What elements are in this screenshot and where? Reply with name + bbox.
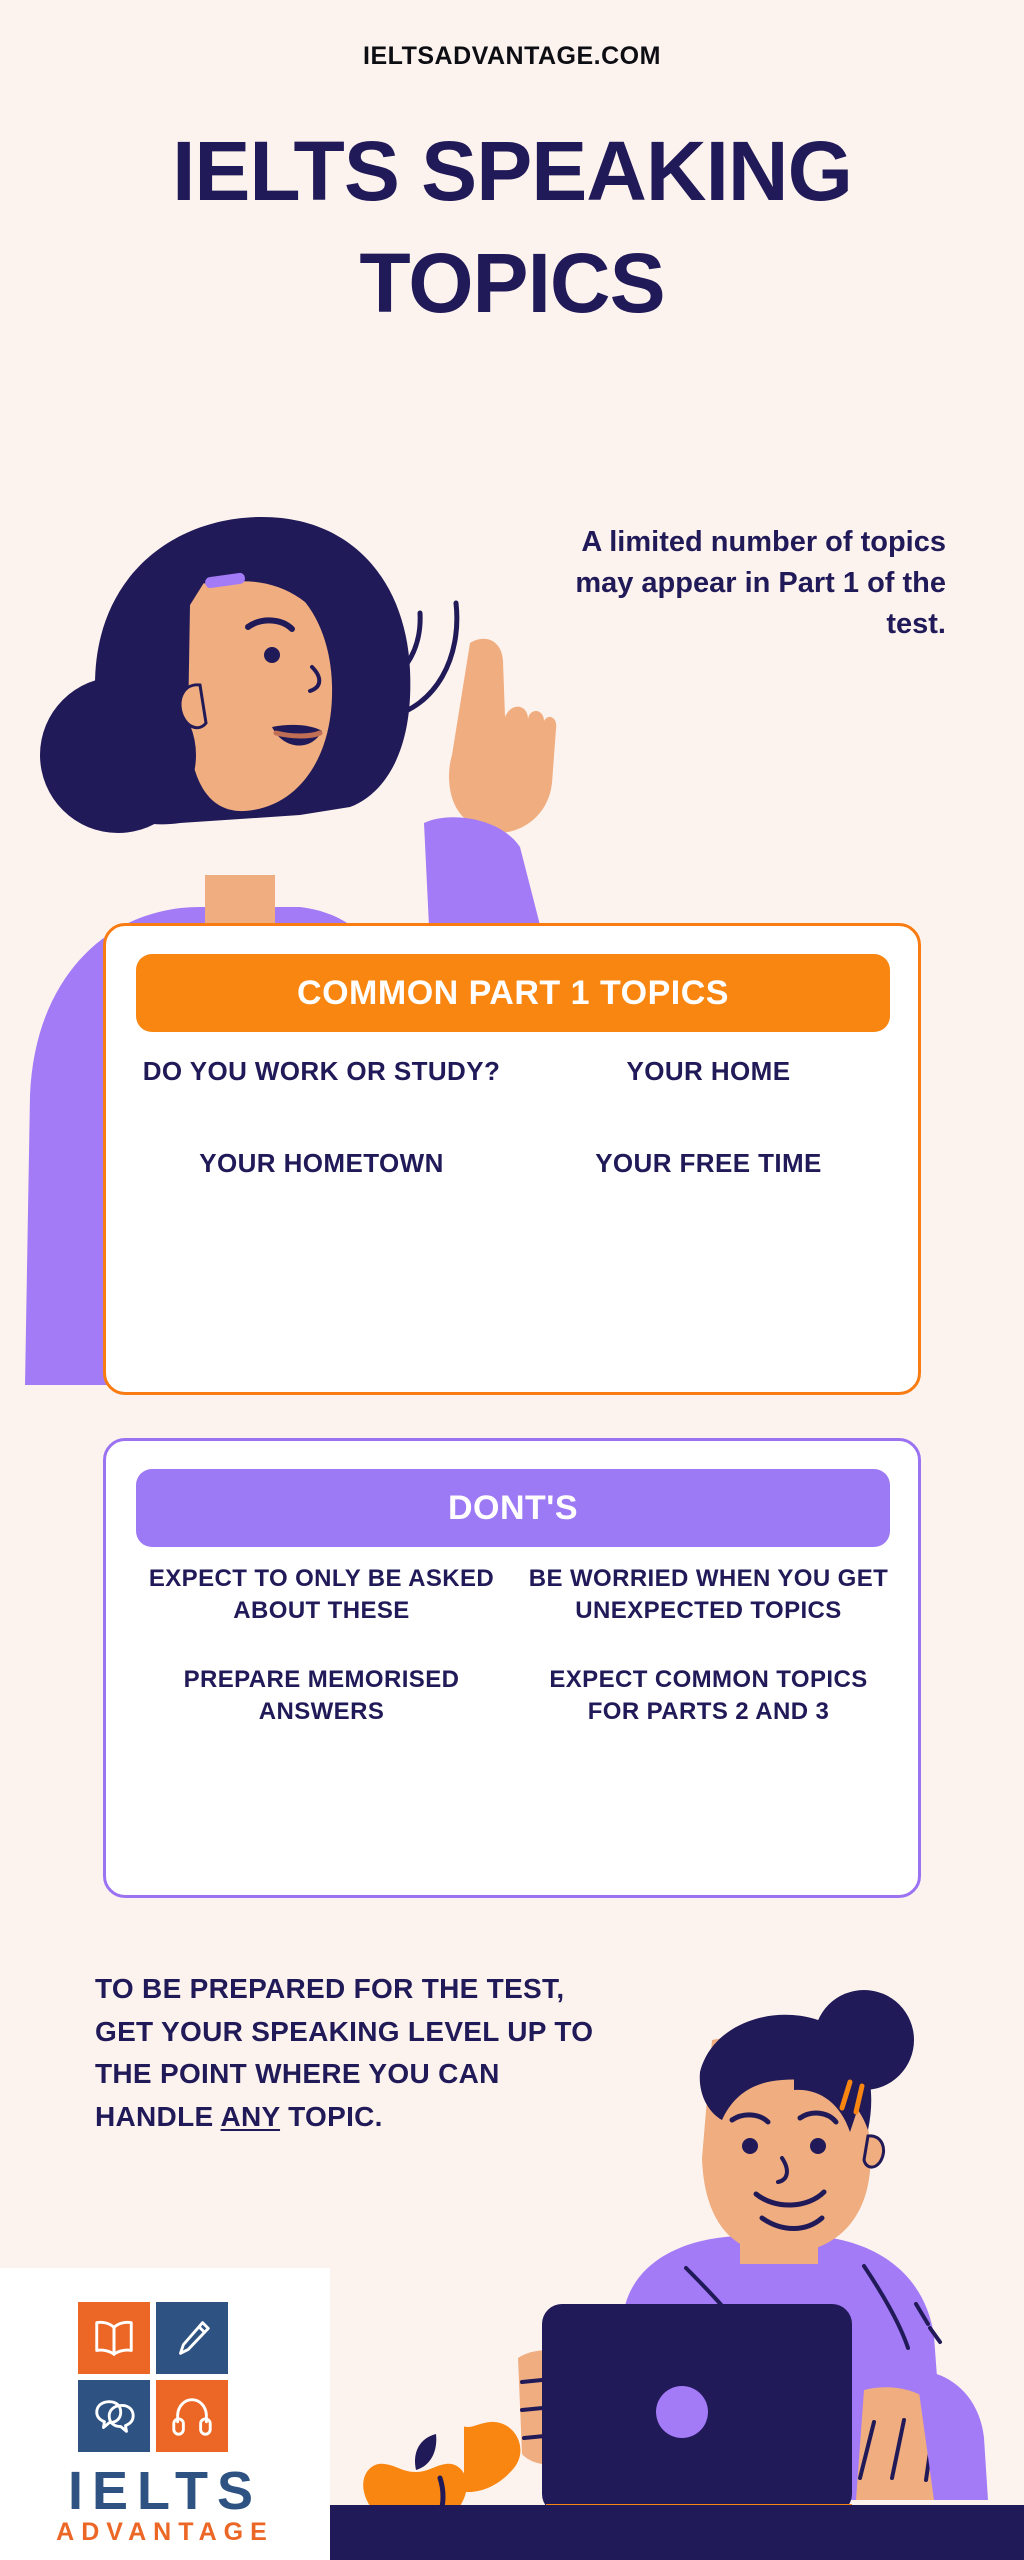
site-url: IELTSADVANTAGE.COM bbox=[0, 42, 1024, 71]
logo-icon-grid bbox=[78, 2302, 228, 2452]
dont-item: PREPARE MEMORISED ANSWERS bbox=[128, 1664, 515, 1727]
intro-paragraph: A limited number of topics may appear in… bbox=[546, 522, 946, 646]
pen-icon bbox=[156, 2302, 228, 2374]
outro-line4-after: TOPIC. bbox=[280, 2101, 383, 2132]
common-topics-grid: DO YOU WORK OR STUDY? YOUR HOME YOUR HOM… bbox=[128, 1054, 902, 1181]
logo-wordmark: IELTS bbox=[0, 2464, 330, 2518]
book-icon bbox=[78, 2302, 150, 2374]
topic-item: YOUR FREE TIME bbox=[515, 1146, 902, 1180]
outro-line4-before: HANDLE bbox=[95, 2101, 221, 2132]
page-title-line1: IELTS SPEAKING bbox=[172, 124, 852, 218]
desk-surface bbox=[330, 2505, 1024, 2560]
dont-item: EXPECT TO ONLY BE ASKED ABOUT THESE bbox=[128, 1563, 515, 1626]
dont-item: EXPECT COMMON TOPICS FOR PARTS 2 AND 3 bbox=[515, 1664, 902, 1727]
topic-item: DO YOU WORK OR STUDY? bbox=[128, 1054, 515, 1088]
outro-emphasis-any: ANY bbox=[221, 2101, 281, 2132]
infographic-page: IELTSADVANTAGE.COM IELTS SPEAKING TOPICS… bbox=[0, 0, 1024, 2560]
logo-subtext: ADVANTAGE bbox=[0, 2520, 330, 2545]
logo-panel: IELTS ADVANTAGE bbox=[0, 2268, 330, 2560]
donts-card: DONT'S EXPECT TO ONLY BE ASKED ABOUT THE… bbox=[103, 1438, 921, 1898]
dont-item: BE WORRIED WHEN YOU GET UNEXPECTED TOPIC… bbox=[515, 1563, 902, 1626]
common-topics-card: COMMON PART 1 TOPICS DO YOU WORK OR STUD… bbox=[103, 923, 921, 1395]
topic-item: YOUR HOME bbox=[515, 1054, 902, 1088]
donts-heading: DONT'S bbox=[136, 1469, 890, 1547]
topic-item: YOUR HOMETOWN bbox=[128, 1146, 515, 1180]
woman-at-laptop-illustration bbox=[464, 1980, 1024, 2560]
page-title: IELTS SPEAKING TOPICS bbox=[0, 130, 1024, 325]
speech-bubbles-icon bbox=[78, 2380, 150, 2452]
common-topics-heading: COMMON PART 1 TOPICS bbox=[136, 954, 890, 1032]
page-title-line2: TOPICS bbox=[0, 242, 1024, 324]
headphones-icon bbox=[156, 2380, 228, 2452]
donts-grid: EXPECT TO ONLY BE ASKED ABOUT THESE BE W… bbox=[128, 1563, 902, 1728]
